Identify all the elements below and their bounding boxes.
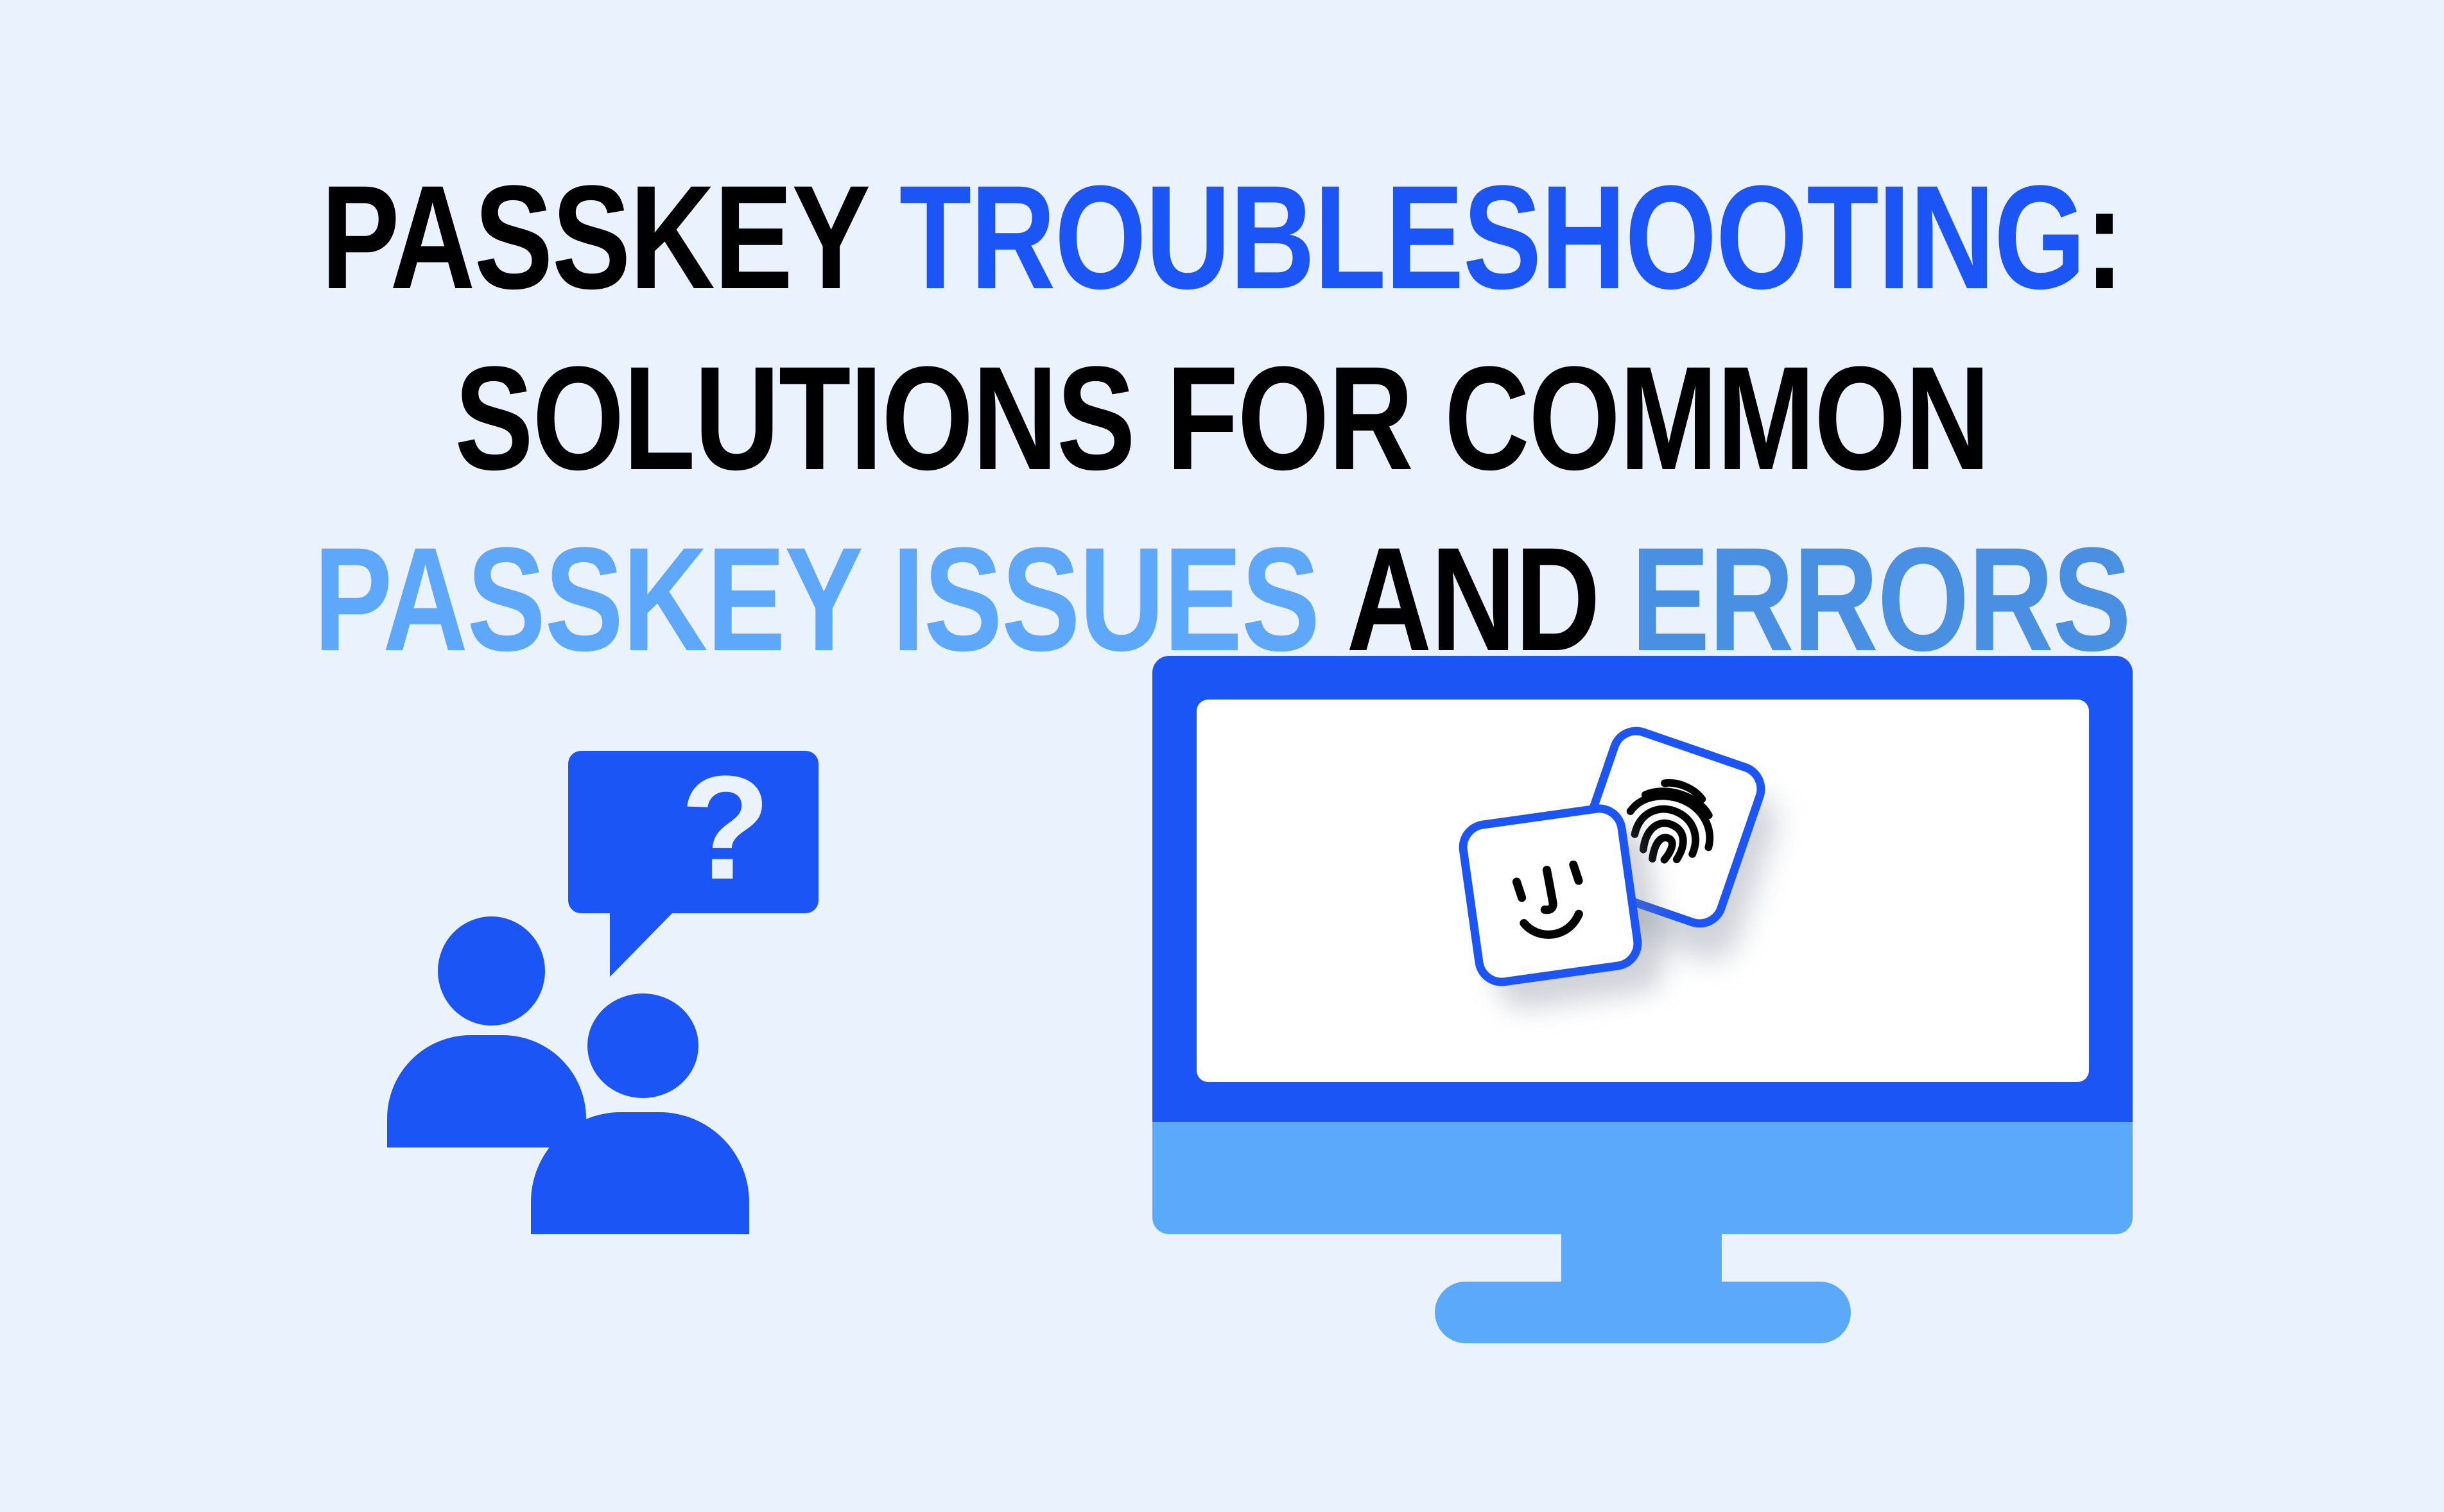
title-line-3: PASSKEY ISSUES AND ERRORS [245, 526, 2200, 673]
person-back-head-icon [438, 916, 545, 1026]
face-id-card [1455, 801, 1645, 990]
page-title: PASSKEY TROUBLESHOOTING: SOLUTIONS FOR C… [0, 164, 2444, 673]
biometric-cards-group [1441, 738, 1839, 1072]
title-line-2: SOLUTIONS FOR COMMON [245, 345, 2200, 492]
monitor-screen [1197, 700, 2089, 1082]
title-line-1: PASSKEY TROUBLESHOOTING: [245, 164, 2200, 311]
people-question-icon: ? [382, 751, 831, 1258]
title-line-1-part-1: PASSKEY [321, 155, 899, 320]
title-line-2-text: SOLUTIONS FOR COMMON [455, 336, 1989, 501]
title-line-1-colon: : [2084, 155, 2123, 320]
monitor-chin [1152, 1122, 2133, 1234]
speech-bubble-tail-icon [610, 913, 673, 977]
question-mark-icon: ? [568, 751, 819, 913]
title-line-1-part-2: TROUBLESHOOTING [899, 155, 2085, 320]
hero-banner: PASSKEY TROUBLESHOOTING: SOLUTIONS FOR C… [0, 0, 2444, 1512]
person-back-body-icon [387, 1035, 586, 1147]
monitor-stand-base [1435, 1282, 1851, 1343]
desktop-monitor-illustration [1152, 656, 2133, 1236]
smiling-face-icon [1465, 811, 1636, 981]
person-front-head-icon [587, 993, 698, 1098]
